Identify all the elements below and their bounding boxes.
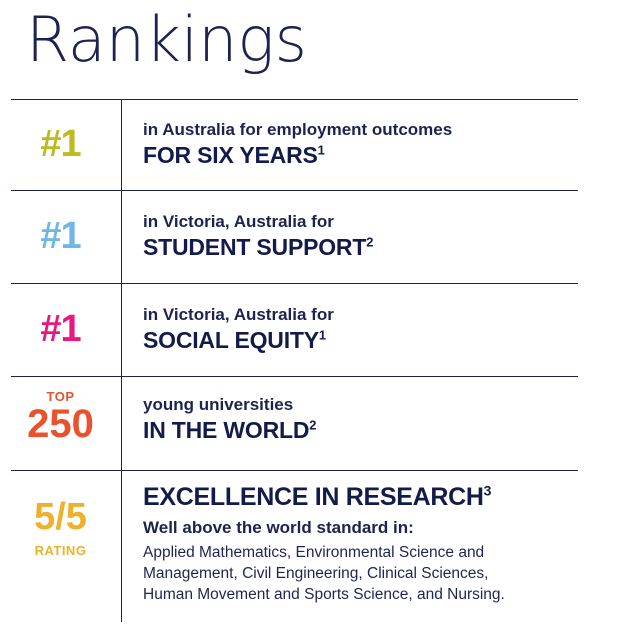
badge-rank-1-social-equity: #1 — [0, 310, 121, 348]
badge-rank-1-employment: #1 — [0, 125, 121, 163]
row-headline: IN THE WORLD2 — [143, 416, 616, 444]
footnote-marker: 1 — [319, 327, 326, 342]
row-headline-text: FOR SIX YEARS — [143, 142, 318, 168]
ranking-row-employment-outcomes: #1 in Australia for employment outcomes … — [0, 99, 622, 189]
badge-rating-label: RATING — [0, 544, 121, 557]
row-headline-text: IN THE WORLD — [143, 417, 309, 443]
rankings-infographic: Rankings #1 in Australia for employment … — [0, 0, 622, 641]
page-title: Rankings — [26, 2, 307, 78]
row-divider — [11, 283, 578, 284]
ranking-row-social-equity: #1 in Victoria, Australia for SOCIAL EQU… — [0, 283, 622, 375]
research-field-line: Applied Mathematics, Environmental Scien… — [143, 542, 616, 563]
research-field-line: Management, Civil Engineering, Clinical … — [143, 563, 616, 584]
row-divider — [11, 376, 578, 377]
row-headline-text: SOCIAL EQUITY — [143, 327, 319, 353]
row-lead-text: in Australia for employment outcomes — [143, 119, 616, 141]
row-lead-text: young universities — [143, 394, 616, 416]
row-headline: EXCELLENCE IN RESEARCH3 — [143, 482, 616, 512]
badge-rank-1-student-support: #1 — [0, 217, 121, 255]
row-subhead: Well above the world standard in: — [143, 516, 616, 539]
row-lead-text: in Victoria, Australia for — [143, 304, 616, 326]
row-headline: SOCIAL EQUITY1 — [143, 326, 616, 354]
badge-rating-value: 5/5 — [0, 498, 121, 536]
row-headline: FOR SIX YEARS1 — [143, 141, 616, 169]
badge-top-250-value: 250 — [0, 404, 121, 444]
ranking-row-excellence-in-research: 5/5 RATING EXCELLENCE IN RESEARCH3 Well … — [0, 470, 622, 641]
row-headline-text: STUDENT SUPPORT — [143, 234, 366, 260]
row-headline: STUDENT SUPPORT2 — [143, 233, 616, 261]
footnote-marker: 2 — [366, 234, 373, 249]
row-lead-text: in Victoria, Australia for — [143, 211, 616, 233]
ranking-row-top-250: TOP 250 young universities IN THE WORLD2 — [0, 376, 622, 470]
row-headline-text: EXCELLENCE IN RESEARCH — [143, 483, 484, 511]
research-field-line: Human Movement and Sports Science, and N… — [143, 584, 616, 605]
ranking-row-student-support: #1 in Victoria, Australia for STUDENT SU… — [0, 190, 622, 282]
row-divider — [11, 190, 578, 191]
row-divider — [11, 99, 578, 100]
footnote-marker: 1 — [318, 142, 325, 157]
footnote-marker: 3 — [484, 483, 492, 499]
row-divider — [11, 470, 578, 471]
footnote-marker: 2 — [309, 417, 316, 432]
